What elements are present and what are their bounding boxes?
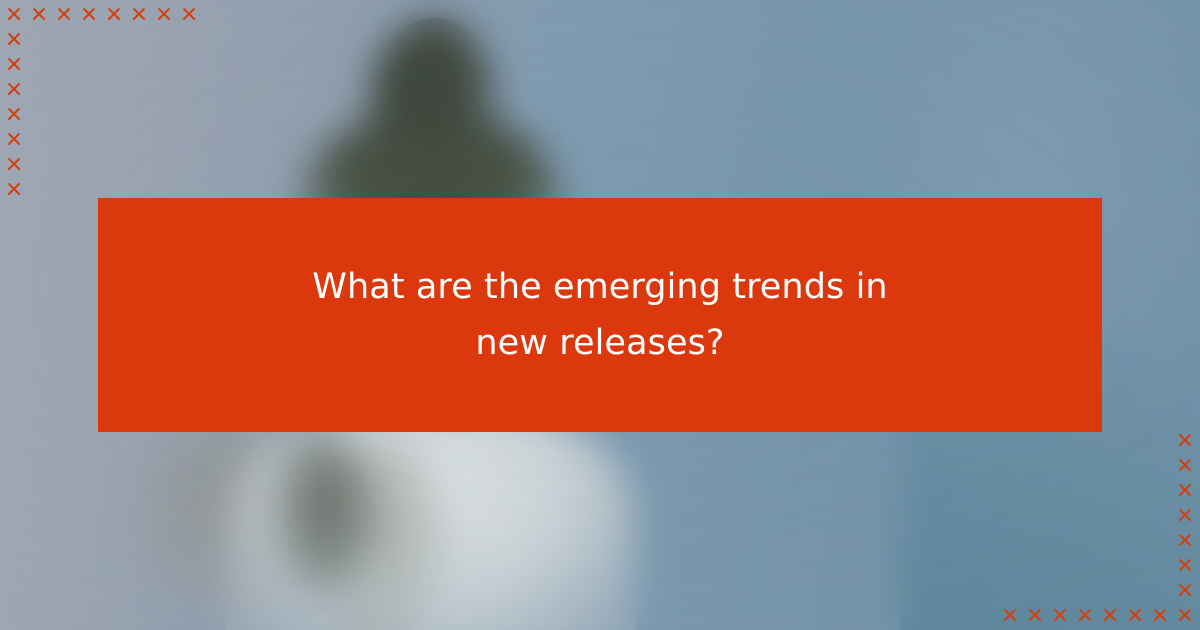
x-mark-icon: [998, 603, 1023, 628]
decoration-x-grid-top: [2, 2, 202, 27]
x-mark-icon: [1098, 603, 1123, 628]
x-mark-icon: [1123, 603, 1148, 628]
x-mark-icon: [1173, 578, 1198, 603]
page-title: What are the emerging trends in new rele…: [280, 259, 920, 371]
x-mark-icon: [2, 27, 27, 52]
x-mark-icon: [1173, 453, 1198, 478]
x-mark-icon: [2, 2, 27, 27]
social-card: What are the emerging trends in new rele…: [0, 0, 1200, 630]
x-mark-icon: [1048, 603, 1073, 628]
x-mark-icon: [27, 2, 52, 27]
x-mark-icon: [152, 2, 177, 27]
x-mark-icon: [1173, 503, 1198, 528]
x-mark-icon: [1148, 603, 1173, 628]
x-mark-icon: [1173, 478, 1198, 503]
x-mark-icon: [2, 152, 27, 177]
x-mark-icon: [177, 2, 202, 27]
decoration-x-grid-left: [2, 27, 27, 202]
x-mark-icon: [1173, 428, 1198, 453]
x-mark-icon: [2, 77, 27, 102]
x-mark-icon: [1073, 603, 1098, 628]
x-mark-icon: [52, 2, 77, 27]
x-mark-icon: [1173, 553, 1198, 578]
x-mark-icon: [2, 177, 27, 202]
x-mark-icon: [127, 2, 152, 27]
x-mark-icon: [1173, 528, 1198, 553]
x-mark-icon: [102, 2, 127, 27]
decoration-x-grid-right: [1173, 428, 1198, 603]
decoration-x-grid-bottom: [998, 603, 1198, 628]
headline-banner: What are the emerging trends in new rele…: [98, 198, 1102, 432]
x-mark-icon: [2, 52, 27, 77]
x-mark-icon: [1023, 603, 1048, 628]
x-mark-icon: [77, 2, 102, 27]
x-mark-icon: [1173, 603, 1198, 628]
x-mark-icon: [2, 102, 27, 127]
x-mark-icon: [2, 127, 27, 152]
